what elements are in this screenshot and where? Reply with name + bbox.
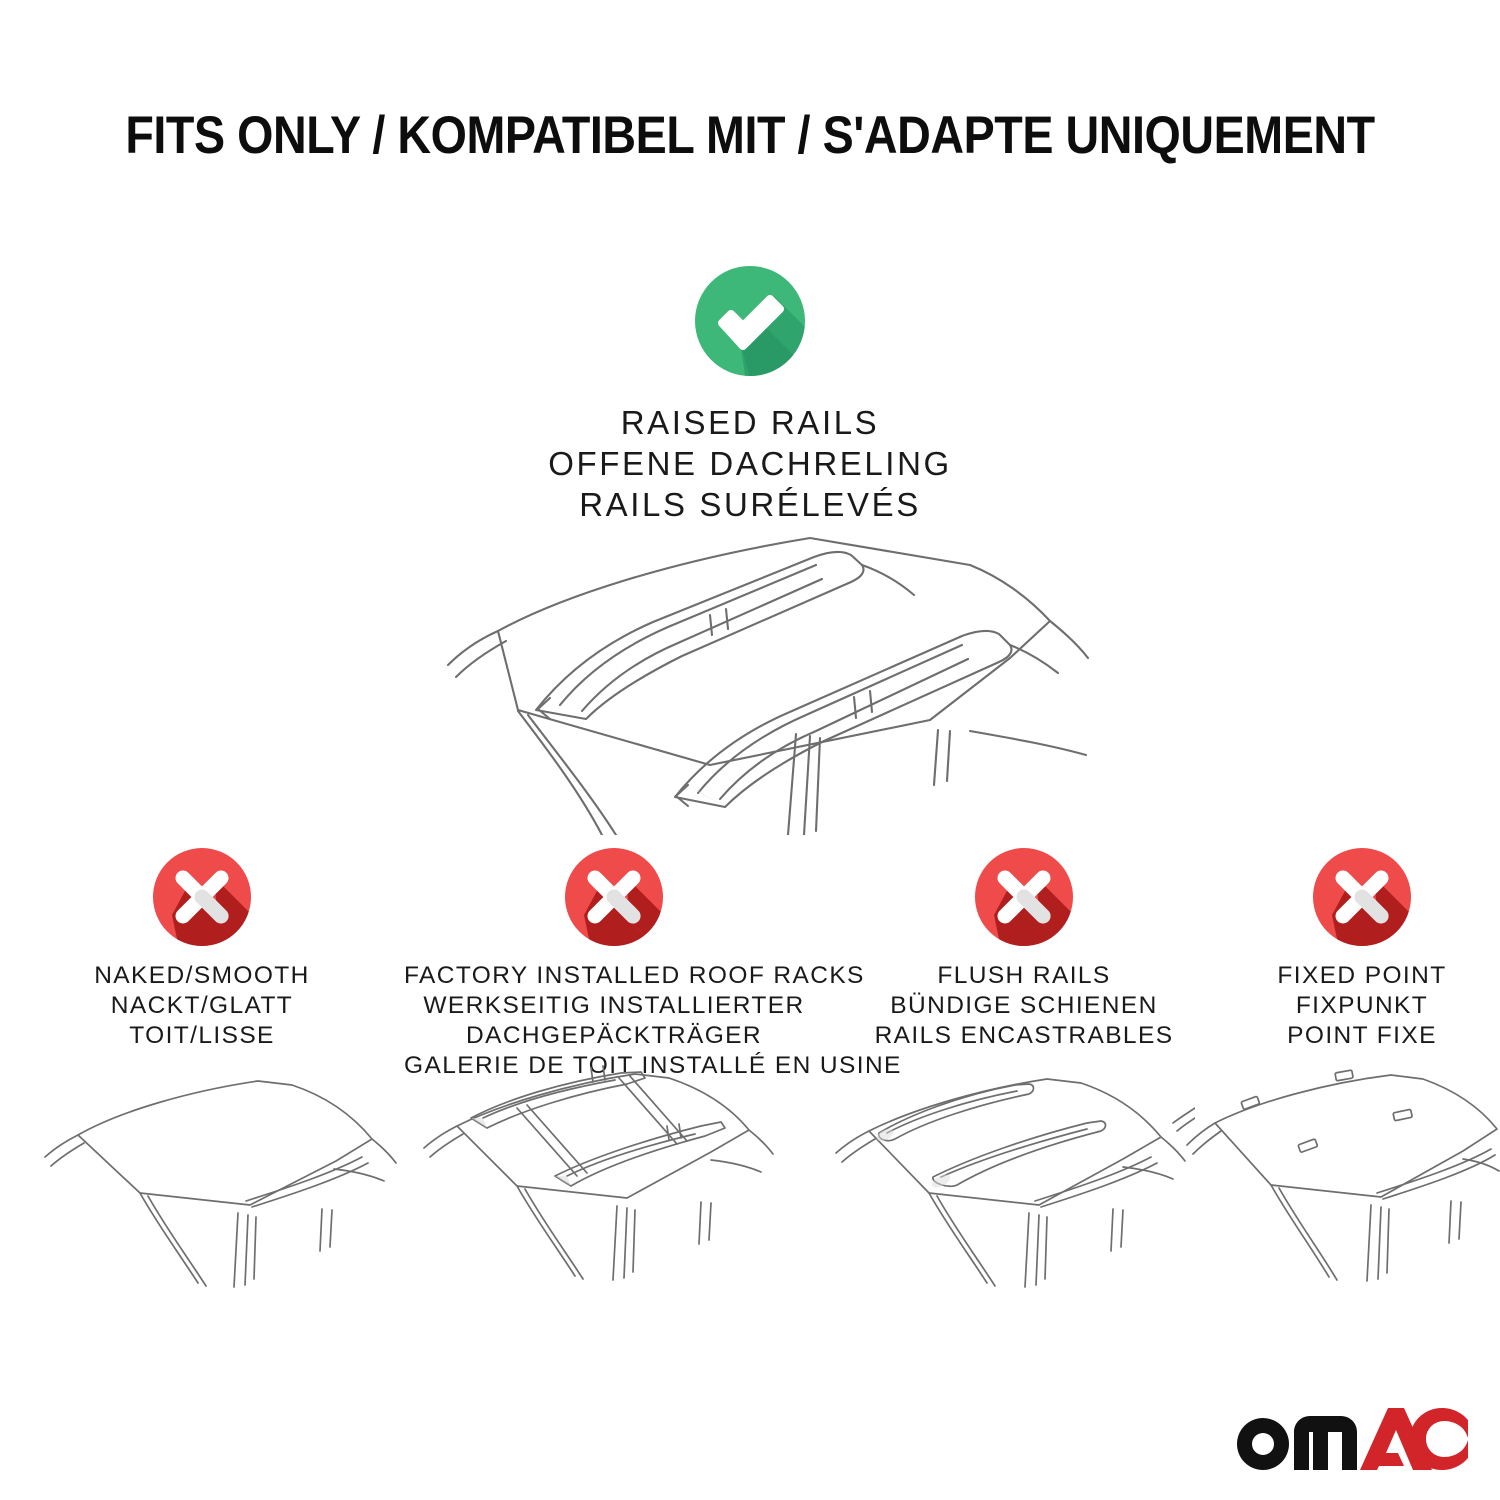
label-line-en: NAKED/SMOOTH: [0, 961, 404, 991]
incompatible-item-factory-roof-racks: FACTORY INSTALLED ROOF RACKS WERKSEITIG …: [404, 845, 824, 1075]
icon-wrap: [824, 845, 1224, 957]
x-circle-icon: [1310, 845, 1414, 949]
label-line-de1: WERKSEITIG INSTALLIERTER: [404, 991, 824, 1021]
icon-wrap: [404, 845, 824, 957]
incompatible-label-naked-smooth: NAKED/SMOOTH NACKT/GLATT TOIT/LISSE: [0, 961, 404, 1051]
label-line-fr: POINT FIXE: [1224, 1021, 1500, 1051]
omac-logo-letter-m: [1294, 1416, 1357, 1470]
approved-label-de: OFFENE DACHRELING: [0, 443, 1500, 484]
omac-logo-letter-o: [1237, 1418, 1289, 1470]
car-roof-fixed-point-illustration: [1185, 1065, 1500, 1293]
label-line-de2: DACHGEPÄCKTRÄGER: [404, 1021, 824, 1051]
incompatible-label-fixed-point: FIXED POINT FIXPUNKT POINT FIXE: [1224, 961, 1500, 1051]
approved-type-block: RAISED RAILS OFFENE DACHRELING RAILS SUR…: [0, 262, 1500, 525]
car-roof-flush-rails-illustration: [825, 1065, 1195, 1293]
incompatible-types-row: NAKED/SMOOTH NACKT/GLATT TOIT/LISSE: [0, 845, 1500, 1075]
approved-label-en: RAISED RAILS: [0, 402, 1500, 443]
label-line-fr: RAILS ENCASTRABLES: [824, 1021, 1224, 1051]
label-line-de: FIXPUNKT: [1224, 991, 1500, 1021]
label-line-de: BÜNDIGE SCHIENEN: [824, 991, 1224, 1021]
car-roof-factory-racks-illustration: [405, 1060, 780, 1295]
incompatible-label-flush-rails: FLUSH RAILS BÜNDIGE SCHIENEN RAILS ENCAS…: [824, 961, 1224, 1051]
car-roof-raised-rails-illustration: [410, 505, 1100, 835]
label-line-en: FACTORY INSTALLED ROOF RACKS: [404, 961, 824, 991]
icon-wrap: [1224, 845, 1500, 957]
label-line-en: FIXED POINT: [1224, 961, 1500, 991]
page-title: FITS ONLY / KOMPATIBEL MIT / S'ADAPTE UN…: [90, 108, 1410, 164]
incompatible-item-flush-rails: FLUSH RAILS BÜNDIGE SCHIENEN RAILS ENCAS…: [824, 845, 1224, 1075]
label-line-fr: TOIT/LISSE: [0, 1021, 404, 1051]
label-line-de: NACKT/GLATT: [0, 991, 404, 1021]
incompatible-illustrations-row: [0, 1065, 1500, 1300]
check-circle-icon: [691, 262, 809, 380]
incompatible-item-fixed-point: FIXED POINT FIXPUNKT POINT FIXE: [1224, 845, 1500, 1075]
x-circle-icon: [150, 845, 254, 949]
icon-wrap: [0, 845, 404, 957]
x-circle-icon: [972, 845, 1076, 949]
omac-logo: [1232, 1406, 1468, 1472]
x-circle-icon: [562, 845, 666, 949]
compatibility-infographic: FITS ONLY / KOMPATIBEL MIT / S'ADAPTE UN…: [0, 0, 1500, 1500]
car-roof-naked-illustration: [40, 1065, 410, 1290]
label-line-en: FLUSH RAILS: [824, 961, 1224, 991]
incompatible-item-naked-smooth: NAKED/SMOOTH NACKT/GLATT TOIT/LISSE: [0, 845, 404, 1075]
